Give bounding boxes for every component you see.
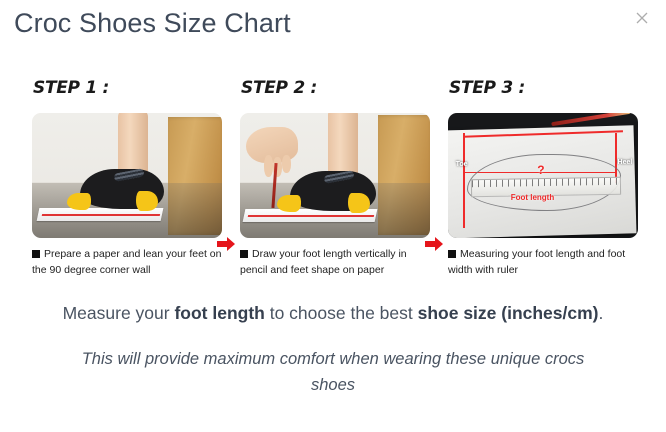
step-image-3: Toe Heel ? Foot length <box>448 113 638 238</box>
step-heading-3: STEP 3 : <box>449 78 525 98</box>
paper-red-line <box>42 214 160 216</box>
step-column-3: STEP 3 : Toe Heel ? Foot length Measurin… <box>441 70 646 295</box>
leg <box>118 113 148 175</box>
step-column-1: STEP 1 : Prepare a paper and lean your f… <box>25 70 230 295</box>
bullet-square-icon <box>448 250 456 258</box>
paper-red-line <box>248 215 374 217</box>
step-caption-3: Measuring your foot length and foot widt… <box>448 246 644 279</box>
step-caption-1: Prepare a paper and lean your feet on th… <box>32 246 228 279</box>
close-icon <box>628 4 656 32</box>
lead-middle: to choose the best <box>265 303 418 323</box>
lead-suffix: . <box>599 303 604 323</box>
lead-bold-shoe-size: shoe size (inches/cm) <box>418 303 599 323</box>
sock-toe <box>277 195 301 212</box>
step-column-2: STEP 2 : Draw your foot length verticall… <box>233 70 438 295</box>
finger <box>264 155 273 177</box>
step-heading-1: STEP 1 : <box>33 78 109 98</box>
lead-bold-foot-length: foot length <box>174 303 264 323</box>
step-image-2 <box>240 113 430 238</box>
footer-lead-line: Measure your foot length to choose the b… <box>0 303 666 324</box>
finger <box>282 155 291 173</box>
sock-heel <box>348 193 370 213</box>
leg <box>328 113 358 175</box>
close-button[interactable] <box>628 4 656 32</box>
label-heel: Heel <box>618 159 633 166</box>
sock-toe <box>67 193 91 210</box>
bullet-square-icon <box>240 250 248 258</box>
step-image-1 <box>32 113 222 238</box>
bullet-square-icon <box>32 250 40 258</box>
guide-line-toe-vertical <box>463 133 465 228</box>
footer-note: This will provide maximum comfort when w… <box>60 347 606 398</box>
label-foot-length: Foot length <box>511 193 555 202</box>
step-caption-2: Draw your foot length vertically in penc… <box>240 246 436 279</box>
ruler-ticks <box>472 178 620 188</box>
step-caption-2-text: Draw your foot length vertically in penc… <box>240 248 407 276</box>
step-caption-3-text: Measuring your foot length and foot widt… <box>448 248 625 276</box>
steps-strip: STEP 1 : Prepare a paper and lean your f… <box>0 70 666 295</box>
label-toe: Toe <box>456 161 468 168</box>
sock-heel <box>136 191 158 211</box>
step-caption-1-text: Prepare a paper and lean your feet on th… <box>32 248 221 276</box>
lead-prefix: Measure your <box>63 303 175 323</box>
page-title: Croc Shoes Size Chart <box>14 8 291 39</box>
step-heading-2: STEP 2 : <box>241 78 317 98</box>
label-question: ? <box>537 163 544 177</box>
